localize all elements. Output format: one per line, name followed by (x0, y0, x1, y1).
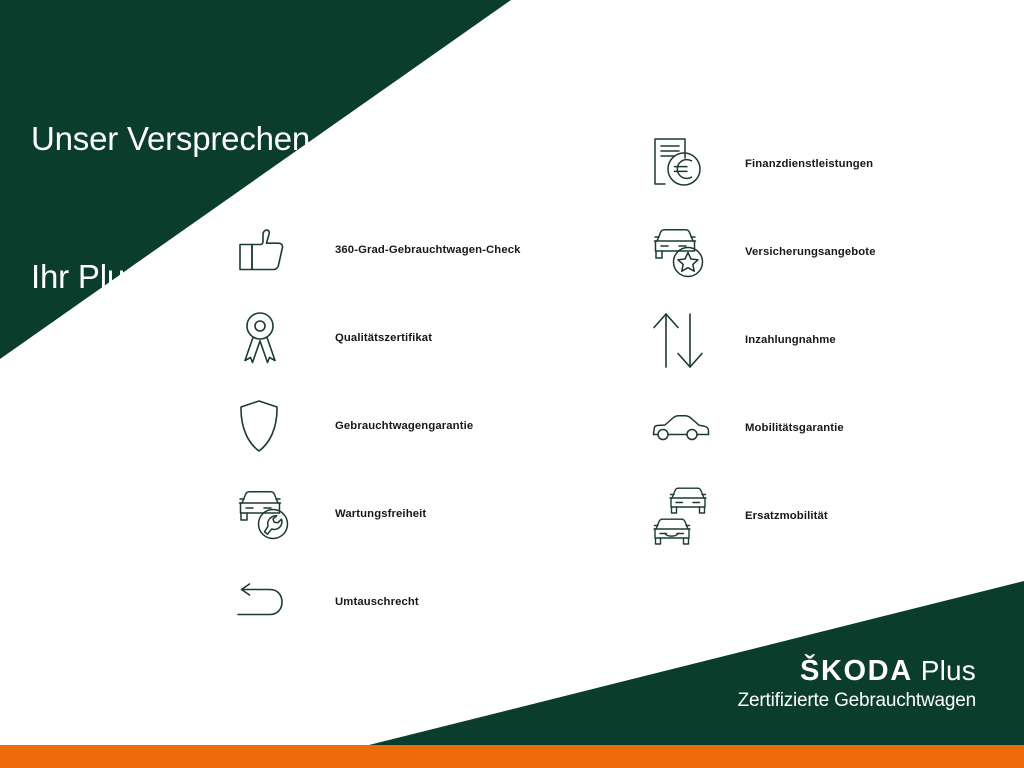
car-wrench-icon (236, 481, 306, 547)
plus-wordmark-text: Plus (913, 655, 976, 686)
feature-item-gebrauchtwagengarantie: Gebrauchtwagengarantie (236, 382, 521, 470)
feature-item-ersatzmobilitaet: Ersatzmobilität (651, 472, 876, 560)
thumbs-up-icon (236, 217, 306, 283)
feature-item-versicherungsangebote: Versicherungsangebote (651, 208, 876, 296)
feature-label: Mobilitätsgarantie (745, 422, 844, 434)
feature-label: Wartungsfreiheit (335, 508, 426, 520)
feature-item-wartungsfreiheit: Wartungsfreiheit (236, 470, 521, 558)
document-euro-icon (651, 131, 721, 197)
return-arrow-icon (236, 569, 306, 635)
car-star-icon (651, 219, 721, 285)
orange-bar-bottom (0, 745, 1024, 768)
two-cars-icon (651, 483, 721, 549)
shield-icon (236, 393, 306, 459)
promo-banner: Unser Versprechen. Ihr Plus. 360-Grad-Ge… (0, 0, 1024, 768)
skoda-wordmark-text: ŠKODA (800, 655, 913, 687)
headline-line-1: Unser Versprechen. (31, 116, 319, 162)
feature-label: Umtauschrecht (335, 596, 419, 608)
award-rosette-icon (236, 305, 306, 371)
feature-label: 360-Grad-Gebrauchtwagen-Check (335, 244, 521, 256)
feature-item-inzahlungnahme: Inzahlungnahme (651, 296, 876, 384)
feature-label: Qualitätszertifikat (335, 332, 432, 344)
feature-item-mobilitaetsgarantie: Mobilitätsgarantie (651, 384, 876, 472)
feature-item-360-grad-check: 360-Grad-Gebrauchtwagen-Check (236, 206, 521, 294)
feature-list-left: 360-Grad-Gebrauchtwagen-Check Qualitätsz… (236, 206, 521, 646)
feature-list-right: Finanzdienstleistungen Versicherungsange… (651, 120, 876, 560)
brand-lockup: ŠKODA Plus Zertifizierte Gebrauchtwagen (738, 655, 976, 713)
skoda-plus-wordmark: ŠKODA Plus (738, 655, 976, 687)
feature-label: Ersatzmobilität (745, 510, 828, 522)
up-down-arrows-icon (651, 307, 721, 373)
feature-item-qualitaetszertifikat: Qualitätszertifikat (236, 294, 521, 382)
feature-label: Finanzdienstleistungen (745, 158, 873, 170)
feature-item-umtauschrecht: Umtauschrecht (236, 558, 521, 646)
brand-tagline: Zertifizierte Gebrauchtwagen (738, 689, 976, 713)
feature-item-finanzdienstleistungen: Finanzdienstleistungen (651, 120, 876, 208)
feature-label: Gebrauchtwagengarantie (335, 420, 473, 432)
car-side-icon (651, 395, 721, 461)
feature-label: Versicherungsangebote (745, 246, 876, 258)
feature-label: Inzahlungnahme (745, 334, 836, 346)
